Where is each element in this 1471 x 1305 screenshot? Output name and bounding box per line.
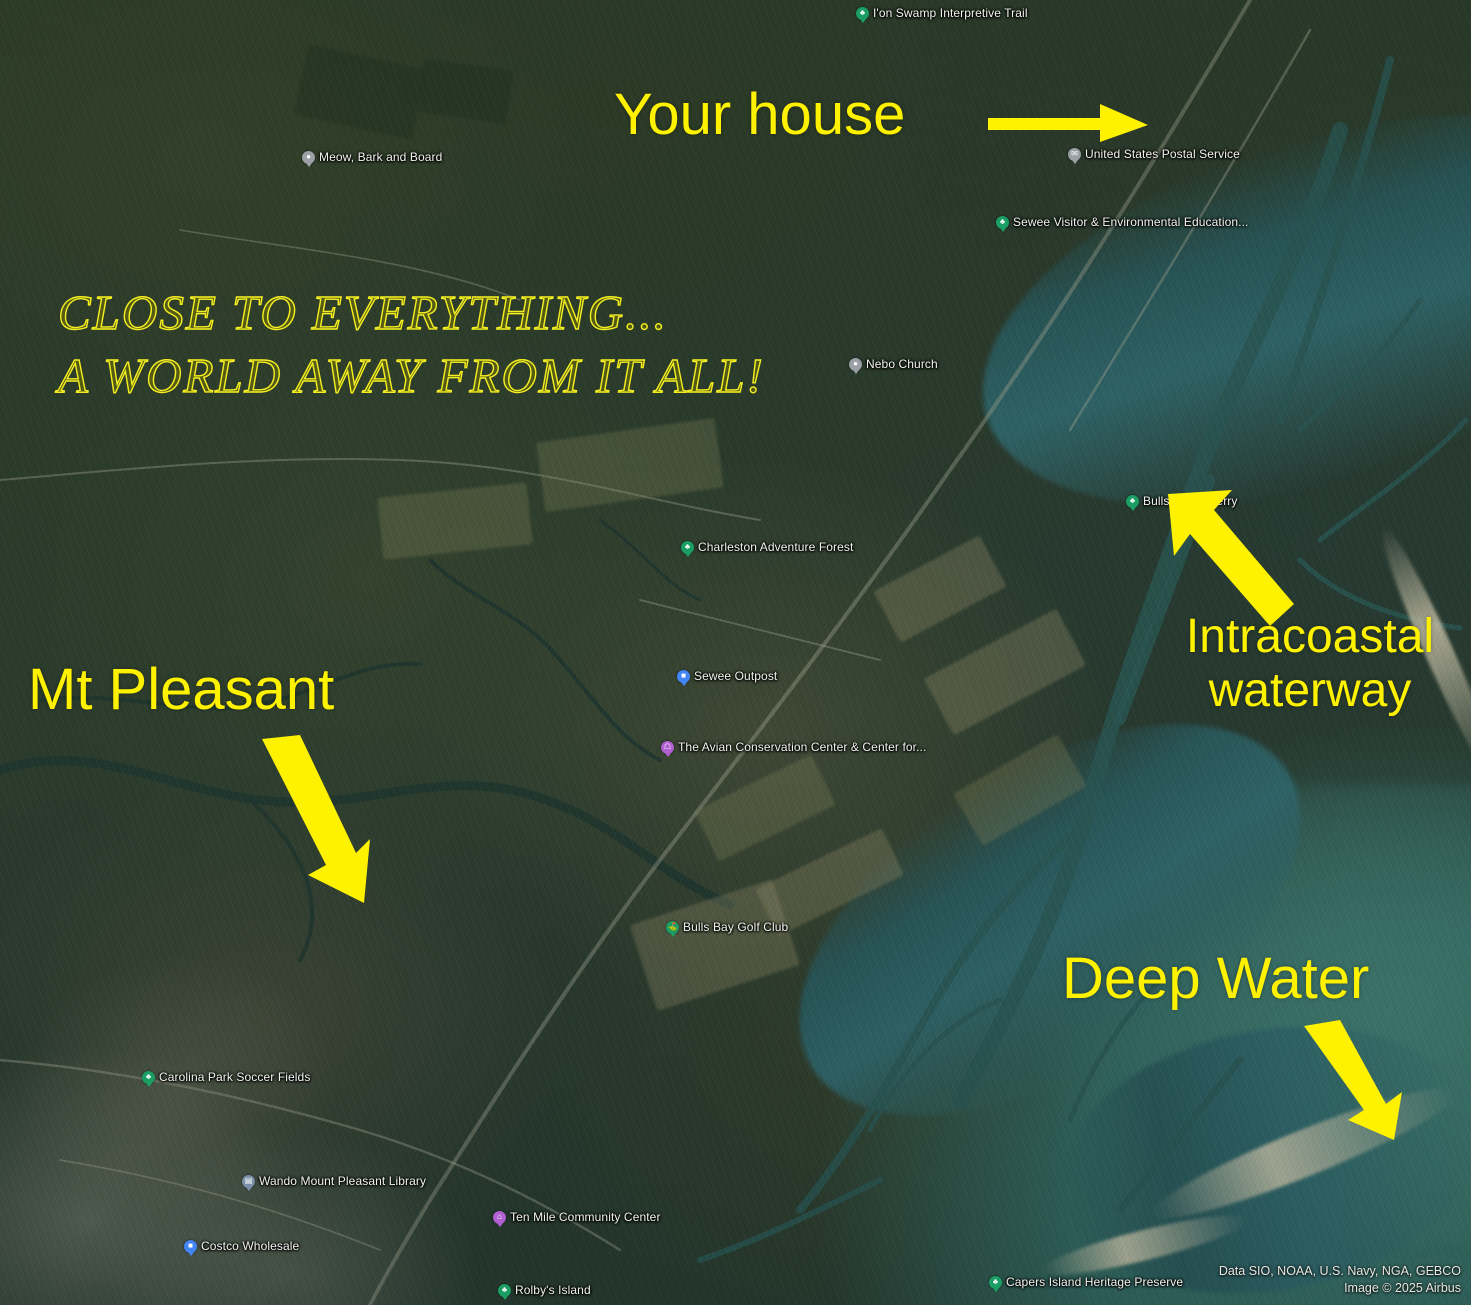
golf-icon[interactable]: ⛳ [666,921,679,934]
poi-label: Carolina Park Soccer Fields [159,1070,310,1084]
poi-marker-avian-center[interactable]: ☖The Avian Conservation Center & Center … [661,740,926,754]
store-icon[interactable]: ■ [184,1240,197,1253]
poi-marker-rolbys-island[interactable]: ♣Rolby's Island [498,1283,591,1297]
poi-marker-nebo-church[interactable]: ●Nebo Church [849,357,938,371]
poi-marker-costco[interactable]: ■Costco Wholesale [184,1239,299,1253]
poi-marker-meow-bark[interactable]: ●Meow, Bark and Board [302,150,442,164]
poi-label: The Avian Conservation Center & Center f… [678,740,926,754]
annotation-intracoastal-waterway: Intracoastal waterway [1160,610,1460,718]
map-attribution: Data SIO, NOAA, U.S. Navy, NGA, GEBCO Im… [1219,1263,1461,1297]
poi-glyph: ♣ [685,543,690,551]
poi-label: Capers Island Heritage Preserve [1006,1275,1183,1289]
dot-icon[interactable]: ● [302,151,315,164]
tree-icon[interactable]: ♣ [498,1284,511,1297]
mail-icon[interactable]: ✉ [1068,148,1081,161]
poi-glyph: ♣ [1130,497,1135,505]
poi-label: Sewee Outpost [694,669,777,683]
poi-glyph: ♣ [146,1073,151,1081]
poi-glyph: ⌂ [497,1213,502,1221]
poi-glyph: ✉ [1071,150,1078,158]
poi-marker-capers-island[interactable]: ♣Capers Island Heritage Preserve [989,1275,1183,1289]
poi-marker-usps[interactable]: ✉United States Postal Service [1068,147,1240,161]
poi-label: Sewee Visitor & Environmental Education.… [1013,215,1248,229]
poi-marker-sewee-visitor[interactable]: ♣Sewee Visitor & Environmental Education… [996,215,1248,229]
annotation-deep-water: Deep Water [1062,950,1369,1008]
poi-marker-sewee-outpost[interactable]: ■Sewee Outpost [677,669,777,683]
poi-marker-charleston-adv[interactable]: ♣Charleston Adventure Forest [681,540,853,554]
poi-glyph: ■ [681,672,686,680]
poi-marker-bulls-bay-golf[interactable]: ⛳Bulls Bay Golf Club [666,920,788,934]
poi-glyph: ♣ [502,1286,507,1294]
arrow-your-house-icon [988,100,1148,148]
satellite-map-canvas: ♣I'on Swamp Interpretive Trail●Meow, Bar… [0,0,1471,1305]
building-icon[interactable]: ⌂ [493,1211,506,1224]
poi-label: Rolby's Island [515,1283,591,1297]
poi-label: Meow, Bark and Board [319,150,442,164]
dot-icon[interactable]: ● [849,358,862,371]
store-icon[interactable]: ■ [677,670,690,683]
poi-glyph: ⛳ [668,923,678,931]
annotation-mt-pleasant: Mt Pleasant [28,661,334,719]
attribution-data-line: Data SIO, NOAA, U.S. Navy, NGA, GEBCO [1219,1263,1461,1280]
poi-label: Ten Mile Community Center [510,1210,661,1224]
poi-label: Charleston Adventure Forest [698,540,853,554]
museum-icon[interactable]: ☖ [661,741,674,754]
poi-label: United States Postal Service [1085,147,1240,161]
poi-glyph: ♣ [993,1278,998,1286]
poi-marker-wando-library[interactable]: ▤Wando Mount Pleasant Library [242,1174,426,1188]
poi-label: I'on Swamp Interpretive Trail [873,6,1028,20]
poi-glyph: ● [853,360,858,368]
poi-label: Bulls Bay Golf Club [683,920,788,934]
arrow-intracoastal-icon [1166,486,1296,626]
poi-glyph: ♣ [860,9,865,17]
arrow-deep-water-icon [1300,1020,1410,1140]
poi-glyph: ▤ [245,1177,253,1185]
tree-icon[interactable]: ♣ [681,541,694,554]
poi-label: Wando Mount Pleasant Library [259,1174,426,1188]
tree-icon[interactable]: ♣ [996,216,1009,229]
arrow-mt-pleasant-icon [256,735,376,905]
tree-icon[interactable]: ♣ [989,1276,1002,1289]
poi-marker-carolina-park[interactable]: ♣Carolina Park Soccer Fields [142,1070,310,1084]
poi-glyph: ☖ [664,743,671,751]
poi-label: Nebo Church [866,357,938,371]
poi-glyph: ■ [188,1242,193,1250]
attribution-image-line: Image © 2025 Airbus [1219,1280,1461,1297]
poi-glyph: ● [306,153,311,161]
tree-icon[interactable]: ♣ [856,7,869,20]
poi-label: Costco Wholesale [201,1239,299,1253]
poi-marker-ten-mile[interactable]: ⌂Ten Mile Community Center [493,1210,661,1224]
poi-glyph: ♣ [1000,218,1005,226]
marketing-tagline: CLOSE TO EVERYTHING... A WORLD AWAY FROM… [58,282,765,407]
tree-icon[interactable]: ♣ [1126,495,1139,508]
book-icon[interactable]: ▤ [242,1175,255,1188]
poi-marker-ion-swamp[interactable]: ♣I'on Swamp Interpretive Trail [856,6,1028,20]
tree-icon[interactable]: ♣ [142,1071,155,1084]
annotation-your-house: Your house [614,86,905,144]
